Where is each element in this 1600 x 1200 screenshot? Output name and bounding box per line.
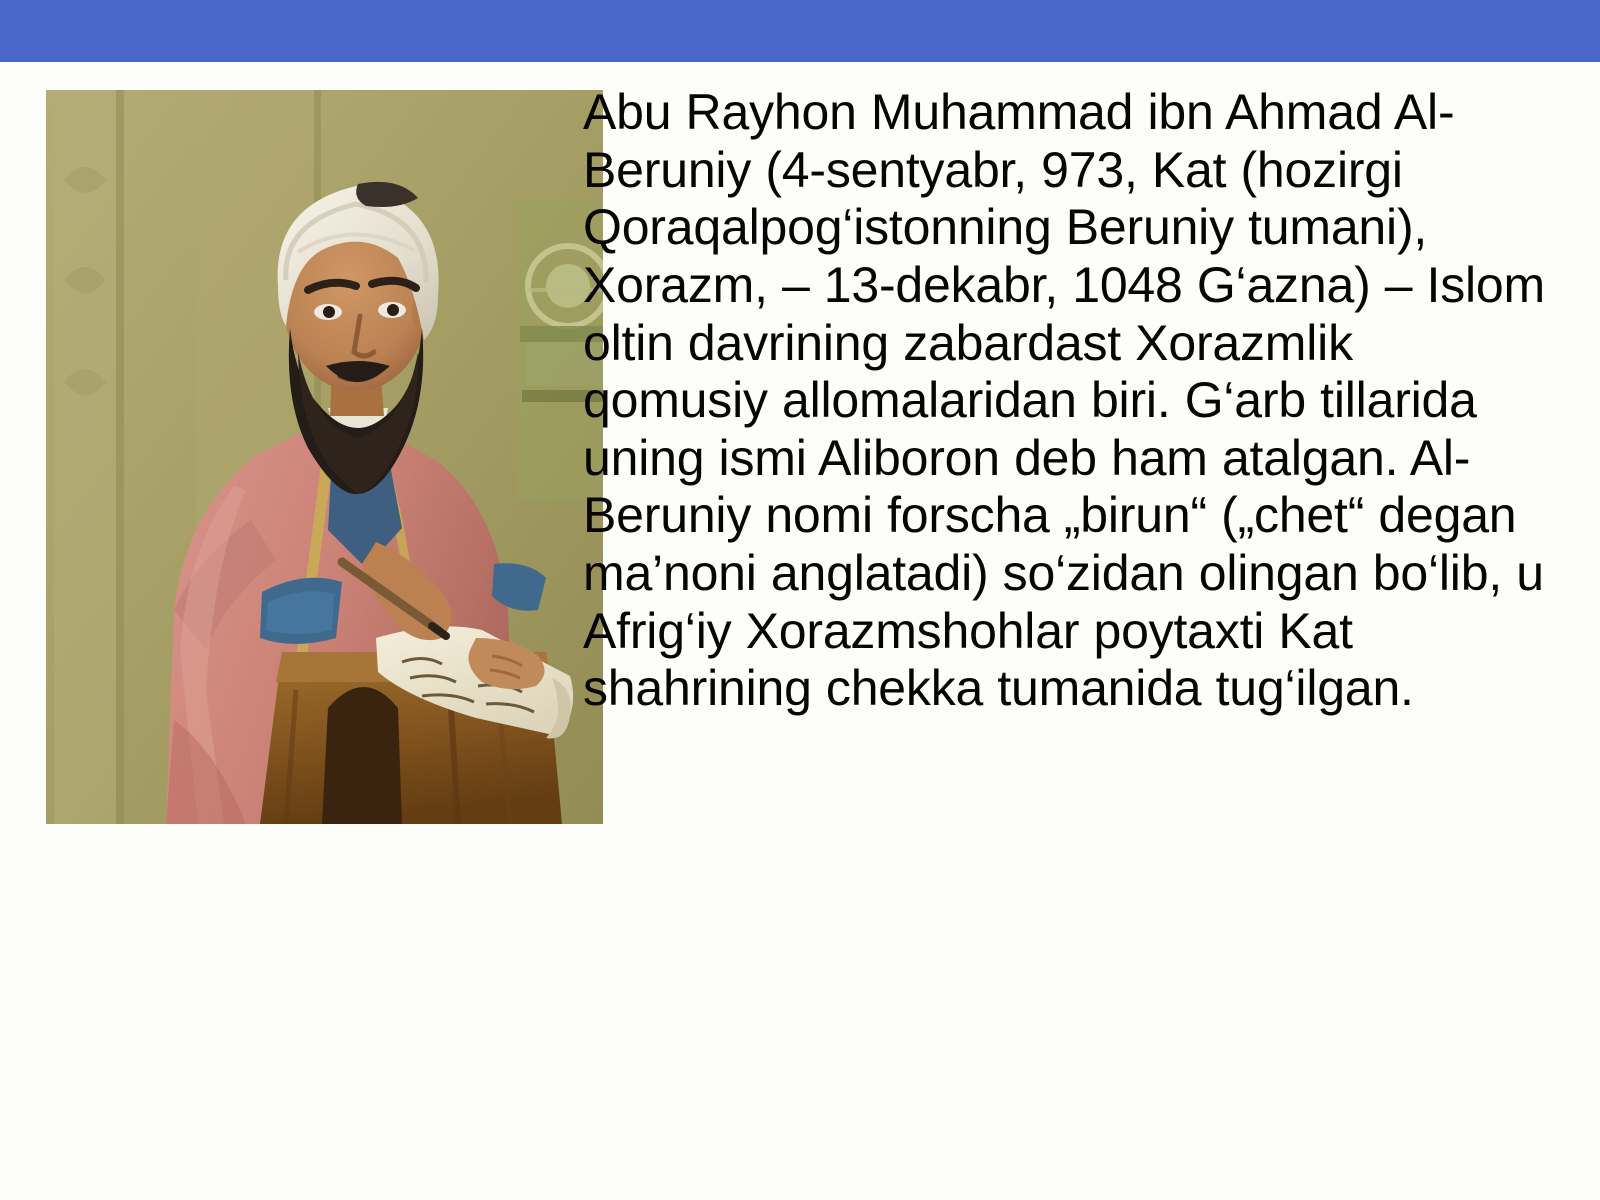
portrait-image	[46, 90, 603, 824]
decorative-top-band	[0, 0, 1600, 62]
slide-content-area: Abu Rayhon Muhammad ibn Ahmad Al-Beruniy…	[0, 62, 1600, 1200]
lectern-niche	[322, 687, 402, 824]
body-paragraph: Abu Rayhon Muhammad ibn Ahmad Al-Beruniy…	[583, 84, 1548, 718]
portrait-illustration	[46, 90, 603, 824]
